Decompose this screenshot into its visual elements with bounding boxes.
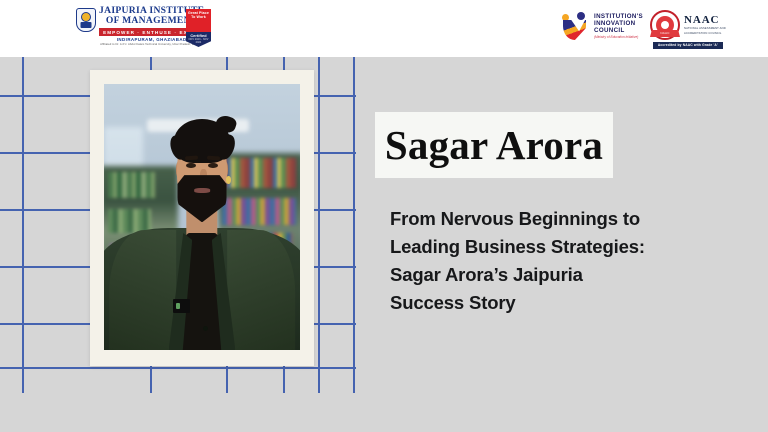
story-subtitle-line: From Nervous Beginnings to (390, 205, 750, 233)
iic-logo-text: INSTITUTION'S INNOVATION COUNCIL (Minist… (594, 13, 643, 40)
naac-seal-icon: NAAC (650, 10, 680, 40)
institute-name-line2: OF MANAGEMENT (106, 16, 198, 26)
portrait-photo-frame (90, 70, 314, 366)
naac-logo: NAAC NAAC NATIONAL ASSESSMENT AND ACCRED… (650, 10, 726, 49)
name-badge-icon (173, 299, 191, 312)
person-name: Sagar Arora (385, 125, 603, 166)
naac-fullname-line1: NATIONAL ASSESSMENT AND (684, 27, 726, 30)
iic-subtitle: (Ministry of Education Initiative) (594, 35, 643, 39)
iic-line2: INNOVATION (594, 20, 643, 27)
grid-line-vertical (22, 57, 24, 393)
jaipuria-institute-logo: JAIPURIA INSTITUTE OF MANAGEMENT EMPOWER… (74, 6, 204, 46)
naac-logo-text: NAAC NATIONAL ASSESSMENT AND ACCREDITATI… (684, 15, 726, 35)
header-bar: JAIPURIA INSTITUTE OF MANAGEMENT EMPOWER… (0, 0, 768, 57)
person-name-band: Sagar Arora (375, 112, 613, 178)
story-subtitle: From Nervous Beginnings toLeading Busine… (390, 205, 750, 317)
naac-acronym: NAAC (684, 15, 726, 26)
gptw-certified-text: Certified NOV 2023 - NOV 2024 (186, 32, 211, 47)
jaipuria-crest-icon (74, 7, 96, 35)
gptw-top-text: Great Place To Work (186, 9, 211, 32)
story-subtitle-line: Success Story (390, 289, 750, 317)
grid-line-horizontal (0, 367, 356, 369)
naac-logo-row: NAAC NAAC NATIONAL ASSESSMENT AND ACCRED… (650, 10, 726, 40)
great-place-to-work-badge-icon: Great Place To Work Certified NOV 2023 -… (186, 9, 211, 47)
naac-seal-label: NAAC (650, 30, 680, 37)
story-subtitle-line: Leading Business Strategies: (390, 233, 750, 261)
iic-line3: COUNCIL (594, 27, 643, 34)
person-figure (104, 84, 300, 350)
naac-fullname-line2: ACCREDITATION COUNCIL (684, 32, 726, 35)
gptw-certified-period: NOV 2023 - NOV 2024 (186, 38, 211, 44)
grid-line-vertical (318, 57, 320, 393)
institute-campus: INDIRAPURAM, GHAZIABAD (117, 37, 187, 42)
slide-canvas: JAIPURIA INSTITUTE OF MANAGEMENT EMPOWER… (0, 0, 768, 432)
iic-line1: INSTITUTION'S (594, 13, 643, 20)
portrait-photo (104, 84, 300, 350)
grid-line-vertical (353, 57, 355, 393)
naac-accreditation-badge: Accredited by NAAC with Grade 'A' (653, 42, 723, 49)
story-subtitle-line: Sagar Arora’s Jaipuria (390, 261, 750, 289)
institutions-innovation-council-logo: INSTITUTION'S INNOVATION COUNCIL (Minist… (560, 11, 643, 41)
iic-people-icon (560, 11, 590, 41)
